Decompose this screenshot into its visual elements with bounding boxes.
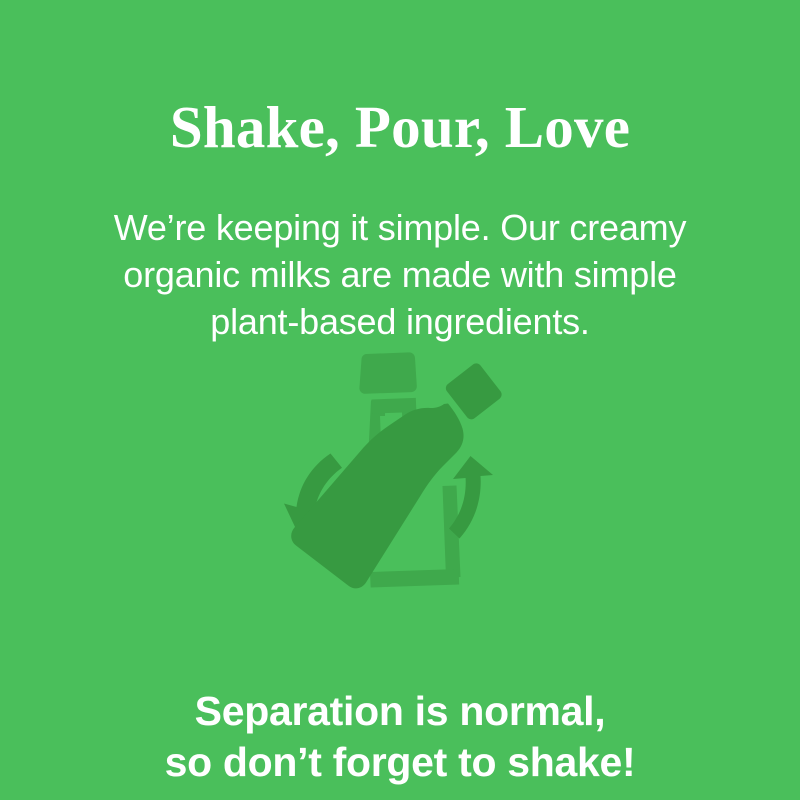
callout-text: Separation is normal, so don’t forget to… — [0, 686, 800, 788]
callout-line-2: so don’t forget to shake! — [0, 737, 800, 788]
page-title: Shake, Pour, Love — [0, 98, 800, 157]
body-copy-line-2: organic milks are made with simple — [0, 251, 800, 298]
body-copy-line-1: We’re keeping it simple. Our creamy — [0, 204, 800, 251]
body-copy: We’re keeping it simple. Our creamy orga… — [0, 204, 800, 345]
shake-pour-love-card: Shake, Pour, Love We’re keeping it simpl… — [0, 0, 800, 800]
body-copy-line-3: plant-based ingredients. — [0, 298, 800, 345]
callout-line-1: Separation is normal, — [0, 686, 800, 737]
shake-bottle-icon — [270, 345, 530, 610]
